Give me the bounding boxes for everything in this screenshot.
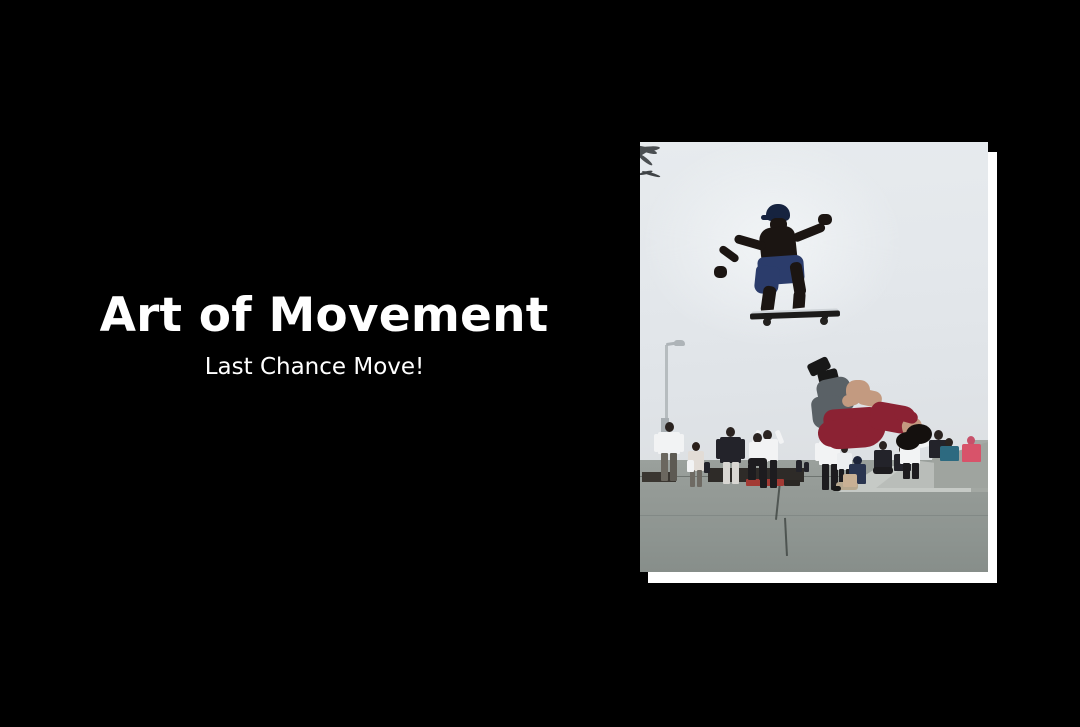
skatepark-photo xyxy=(640,142,988,572)
slide-canvas: Art of Movement Last Chance Move! xyxy=(0,0,1080,727)
title-block: Art of Movement Last Chance Move! xyxy=(0,288,648,381)
skateboard-on-ledge-dark xyxy=(784,480,800,486)
page-title: Art of Movement xyxy=(0,288,648,344)
crowd-person-far xyxy=(687,460,694,472)
crowd-person-far xyxy=(704,462,710,473)
photo-card xyxy=(640,142,997,583)
crowd-person-far xyxy=(804,462,809,472)
page-subtitle: Last Chance Move! xyxy=(0,353,648,381)
crowd-person-far xyxy=(796,460,802,472)
backflipping-person xyxy=(798,360,928,460)
